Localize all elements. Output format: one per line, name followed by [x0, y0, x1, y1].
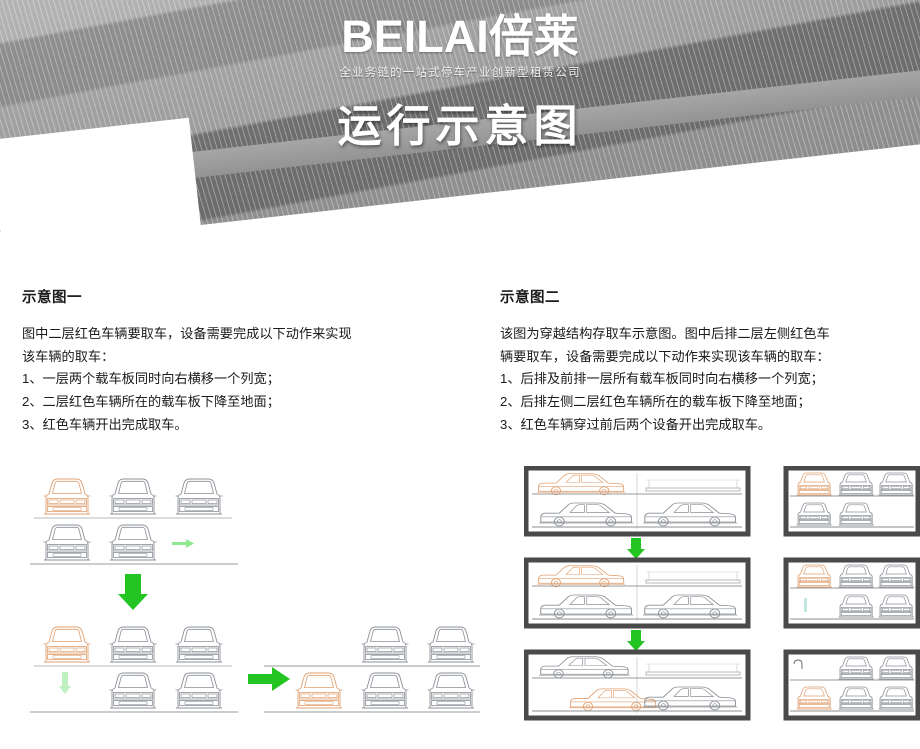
diagram-right-canvas [524, 466, 920, 734]
banner-text-group: BEILAI倍莱® 全业务链的一站式停车产业创新型租赁公司 运行示意图 [0, 0, 920, 232]
brand-slogan: 全业务链的一站式停车产业创新型租赁公司 [0, 64, 920, 80]
stage1-upper-car-1-highlight [44, 479, 91, 514]
stage3-upper-car-2 [362, 627, 409, 662]
stage1-lower-car-2 [110, 525, 157, 560]
stage3-lower-car-1-highlight [296, 673, 343, 708]
stage2-upper-car-2 [110, 627, 157, 662]
section-right-line-0: 该图为穿越结构存取车示意图。图中后排二层左侧红色车 [500, 323, 920, 346]
brand-logo: BEILAI倍莱® [0, 14, 920, 59]
row1-front-panel [786, 468, 918, 534]
section-right-line-3: 2、后排左侧二层红色车辆所在的载车板下降至地面； [500, 391, 920, 414]
page-title: 运行示意图 [0, 90, 920, 154]
stage1-upper-car-3 [176, 479, 223, 514]
arrow-down-faint [59, 672, 71, 694]
diagram-left [20, 462, 480, 732]
row-3-lowered [526, 652, 918, 718]
section-right-line-4: 3、红色车辆穿过前后两个设备开出完成取车。 [500, 414, 920, 437]
stage1-lower-car-1 [44, 525, 91, 560]
section-left-line-2: 1、一层两个载车板同时向右横移一个列宽； [22, 368, 462, 391]
row2-front-panel [786, 560, 918, 626]
stage2-lower-car-2 [110, 673, 157, 708]
diagram-left-canvas [20, 462, 480, 732]
section-left-line-4: 3、红色车辆开出完成取车。 [22, 414, 462, 437]
section-right: 示意图二 该图为穿越结构存取车示意图。图中后排二层左侧红色车 辆要取车，设备需要… [500, 286, 920, 437]
stage2-upper-car-1-highlight [44, 627, 91, 662]
stage2-upper-car-3 [176, 627, 223, 662]
row3-side-panel [526, 652, 748, 718]
page-root: BEILAI倍莱® 全业务链的一站式停车产业创新型租赁公司 运行示意图 示意图一… [0, 0, 920, 749]
stage-3-lowered [264, 627, 480, 712]
arrow-down-r2 [627, 630, 645, 651]
row3-front-panel [786, 652, 918, 718]
arrow-down-1 [118, 574, 148, 610]
stage3-lower-car-3 [428, 673, 475, 708]
section-left: 示意图一 图中二层红色车辆要取车，设备需要完成以下动作来实现 该车辆的取车： 1… [22, 286, 462, 437]
arrow-right-small [172, 539, 194, 548]
row2-side-panel [526, 560, 748, 626]
stage3-lower-car-2 [362, 673, 409, 708]
section-left-body: 图中二层红色车辆要取车，设备需要完成以下动作来实现 该车辆的取车： 1、一层两个… [22, 323, 462, 437]
stage3-upper-car-3 [428, 627, 475, 662]
arrow-down-r1 [627, 538, 645, 559]
section-left-line-1: 该车辆的取车： [22, 346, 462, 369]
stage-2-shifted [30, 627, 238, 712]
row-1-initial [526, 468, 918, 534]
diagram-right [524, 466, 920, 734]
section-right-line-2: 1、后排及前排一层所有载车板同时向右横移一个列宽； [500, 368, 920, 391]
section-right-heading: 示意图二 [500, 286, 920, 307]
row1-side-panel [526, 468, 748, 534]
section-left-heading: 示意图一 [22, 286, 462, 307]
stage1-upper-car-2 [110, 479, 157, 514]
stage-1-initial [30, 479, 238, 564]
stage2-lower-car-3 [176, 673, 223, 708]
header-banner: BEILAI倍莱® 全业务链的一站式停车产业创新型租赁公司 运行示意图 [0, 0, 920, 232]
section-left-line-0: 图中二层红色车辆要取车，设备需要完成以下动作来实现 [22, 323, 462, 346]
row2-front-empty-slot-marker [804, 598, 807, 612]
section-right-line-1: 辆要取车，设备需要完成以下动作来实现该车辆的取车： [500, 346, 920, 369]
arrow-right-1 [248, 667, 290, 691]
row-2-shifted [526, 560, 918, 626]
brand-logo-text: BEILAI倍莱 [341, 14, 579, 59]
section-right-body: 该图为穿越结构存取车示意图。图中后排二层左侧红色车 辆要取车，设备需要完成以下动… [500, 323, 920, 437]
section-left-line-3: 2、二层红色车辆所在的载车板下降至地面； [22, 391, 462, 414]
